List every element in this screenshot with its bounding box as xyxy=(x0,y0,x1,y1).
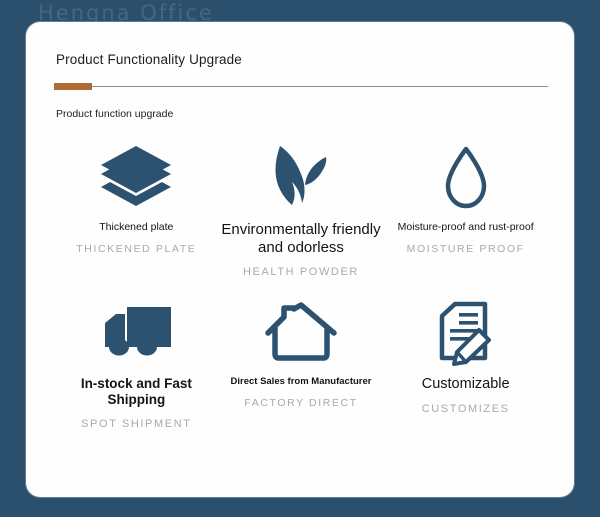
feature-item-fast-shipping[interactable]: In-stock and Fast Shipping SPOT SHIPMENT xyxy=(54,290,219,445)
layers-icon xyxy=(99,139,173,217)
feature-sublabel: FACTORY DIRECT xyxy=(244,397,357,409)
water-drop-icon xyxy=(442,139,490,217)
title-divider xyxy=(54,83,548,89)
feature-item-factory-direct[interactable]: Direct Sales from Manufacturer FACTORY D… xyxy=(219,290,384,445)
feature-item-environmentally-friendly[interactable]: Environmentally friendly and odorless HE… xyxy=(219,135,384,290)
feature-label: Moisture-proof and rust-proof xyxy=(398,221,534,233)
feature-label: Direct Sales from Manufacturer xyxy=(231,376,372,387)
feature-sublabel: CUSTOMIZES xyxy=(422,403,510,415)
feature-label: Thickened plate xyxy=(99,221,173,233)
feature-sublabel: MOISTURE PROOF xyxy=(407,243,525,255)
feature-grid: Thickened plate THICKENED PLATE Environm… xyxy=(54,135,548,445)
section-subtitle: Product function upgrade xyxy=(54,107,176,121)
feature-label: In-stock and Fast Shipping xyxy=(54,376,219,408)
feature-sublabel: THICKENED PLATE xyxy=(76,243,196,255)
feature-label: Customizable xyxy=(422,376,510,393)
house-icon xyxy=(262,294,340,372)
leaf-icon xyxy=(270,139,332,217)
feature-item-customizable[interactable]: Customizable CUSTOMIZES xyxy=(383,290,548,445)
truck-icon xyxy=(96,294,176,372)
divider-accent xyxy=(54,83,92,90)
feature-item-moisture-proof[interactable]: Moisture-proof and rust-proof MOISTURE P… xyxy=(383,135,548,290)
feature-label: Environmentally friendly and odorless xyxy=(219,221,384,256)
document-pencil-icon xyxy=(435,294,497,372)
feature-card: Product Functionality Upgrade Product fu… xyxy=(26,22,574,497)
page-title: Product Functionality Upgrade xyxy=(54,52,550,67)
feature-item-thickened-plate[interactable]: Thickened plate THICKENED PLATE xyxy=(54,135,219,290)
feature-sublabel: HEALTH POWDER xyxy=(243,266,359,278)
feature-sublabel: SPOT SHIPMENT xyxy=(81,418,191,430)
divider-line xyxy=(54,86,548,87)
